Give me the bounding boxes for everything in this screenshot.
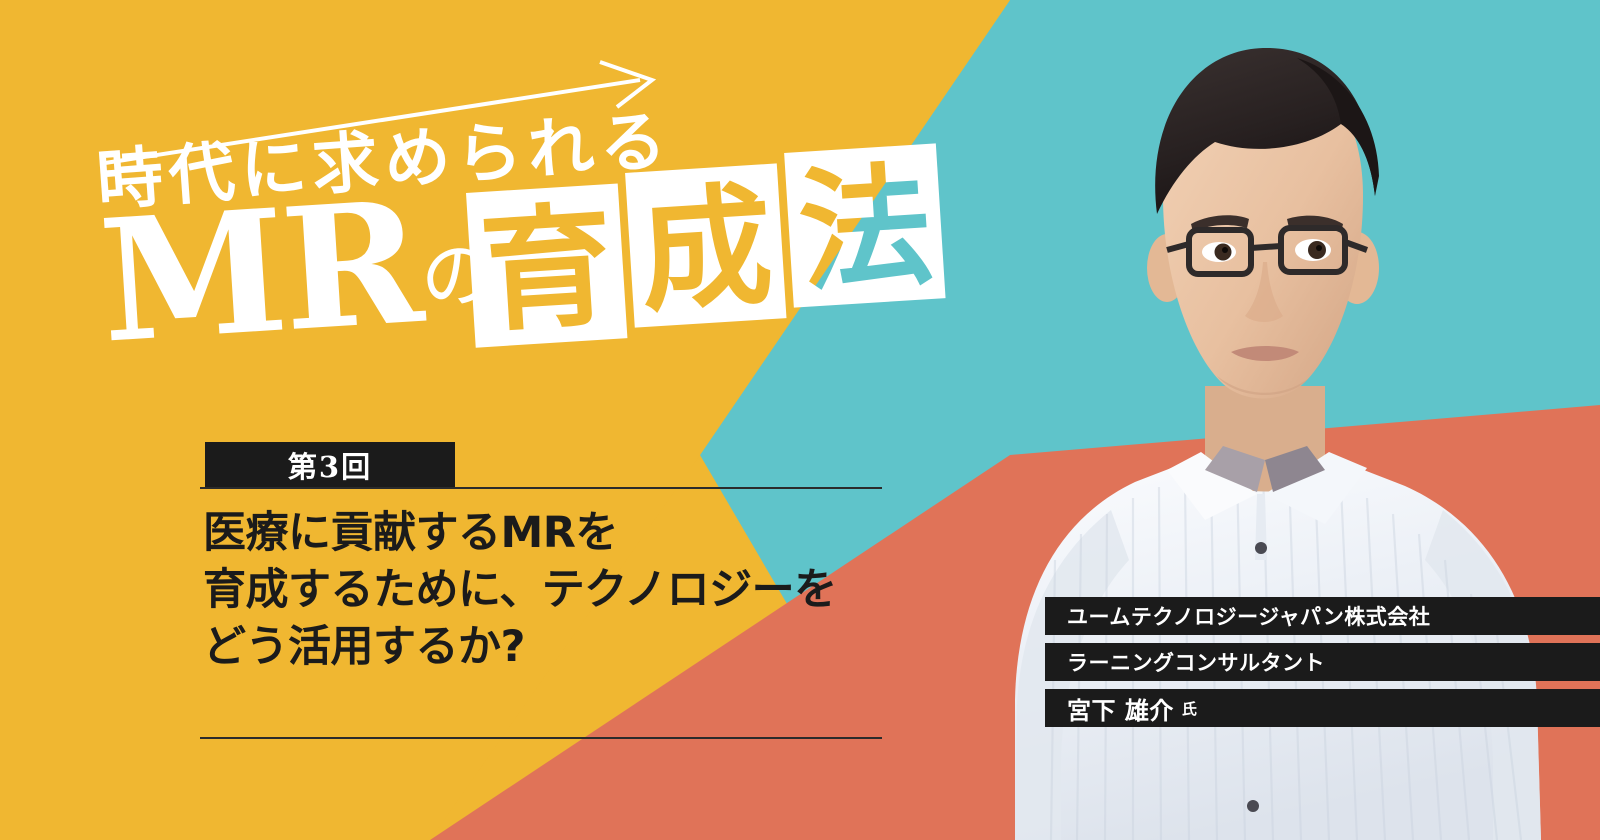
article-hero-banner: 時代に求められる MRの 育 成 法: [0, 0, 1600, 840]
headline-no: の: [417, 214, 498, 325]
headline-mr: MR: [96, 185, 423, 359]
credential-role: ラーニングコンサルタント: [1045, 643, 1600, 681]
credential-company-text: ユームテクノロジージャパン株式会社: [1067, 601, 1430, 631]
credential-company: ユームテクノロジージャパン株式会社: [1045, 597, 1600, 635]
episode-badge-label: 第3回: [288, 444, 372, 486]
divider-bottom: [200, 737, 882, 739]
credential-role-text: ラーニングコンサルタント: [1067, 647, 1325, 677]
article-subtitle: 医療に貢献するMRを 育成するために、テクノロジーを どう活用するか?: [203, 505, 963, 677]
subtitle-line-2: 育成するために、テクノロジーを: [203, 562, 963, 619]
episode-badge: 第3回: [205, 442, 455, 488]
subtitle-line-3: どう活用するか?: [203, 619, 963, 676]
subtitle-line-1: 医療に貢献するMRを: [203, 505, 963, 562]
credential-name-text: 宮下 雄介: [1067, 691, 1174, 726]
speaker-credentials: ユームテクノロジージャパン株式会社 ラーニングコンサルタント 宮下 雄介 氏: [1045, 597, 1600, 735]
credential-name: 宮下 雄介 氏: [1045, 689, 1600, 727]
credential-name-suffix: 氏: [1182, 698, 1197, 719]
headline-mr-lockup: MRの: [96, 180, 499, 359]
headline-group: 時代に求められる MRの: [0, 0, 1000, 430]
divider-top: [200, 487, 882, 489]
